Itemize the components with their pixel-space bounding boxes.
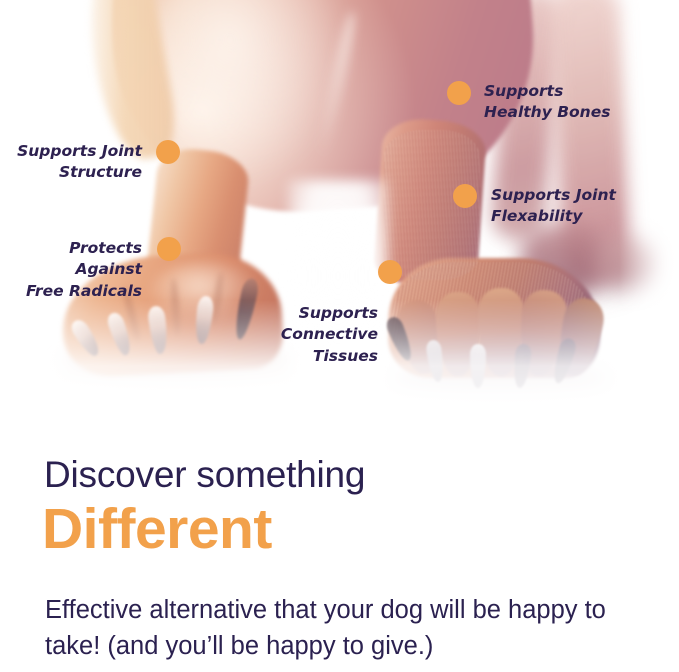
callout-dot-supports-joint-flexability (453, 184, 477, 208)
callout-label-supports-joint-structure: Supports Joint Structure (0, 141, 142, 184)
background-leg-far (596, 238, 658, 288)
callout-dot-protects-against-free-radicals (157, 237, 181, 261)
headline-line-1: Discover something (44, 454, 365, 496)
callout-dot-supports-connective-tissues (378, 260, 402, 284)
callout-dot-supports-joint-structure (156, 140, 180, 164)
headline-line-2-different: Different (42, 496, 272, 562)
photo-background-gap (288, 180, 388, 420)
product-marketing-page: Supports Joint Structure Protects Agains… (0, 0, 679, 672)
callout-label-supports-connective-tissues: Supports Connective Tissues (232, 303, 378, 367)
hero-dog-photo: Supports Joint Structure Protects Agains… (0, 0, 679, 420)
photo-fade-left (0, 0, 70, 420)
subcopy-text: Effective alternative that your dog will… (45, 592, 665, 664)
callout-label-supports-healthy-bones: Supports Healthy Bones (484, 81, 674, 124)
callout-dot-supports-healthy-bones (447, 81, 471, 105)
bottom-copy-section: Discover something Different Effective a… (0, 420, 679, 672)
callout-label-supports-joint-flexability: Supports Joint Flexability (491, 185, 679, 228)
callout-label-protects-against-free-radicals: Protects Against Free Radicals (0, 238, 142, 302)
